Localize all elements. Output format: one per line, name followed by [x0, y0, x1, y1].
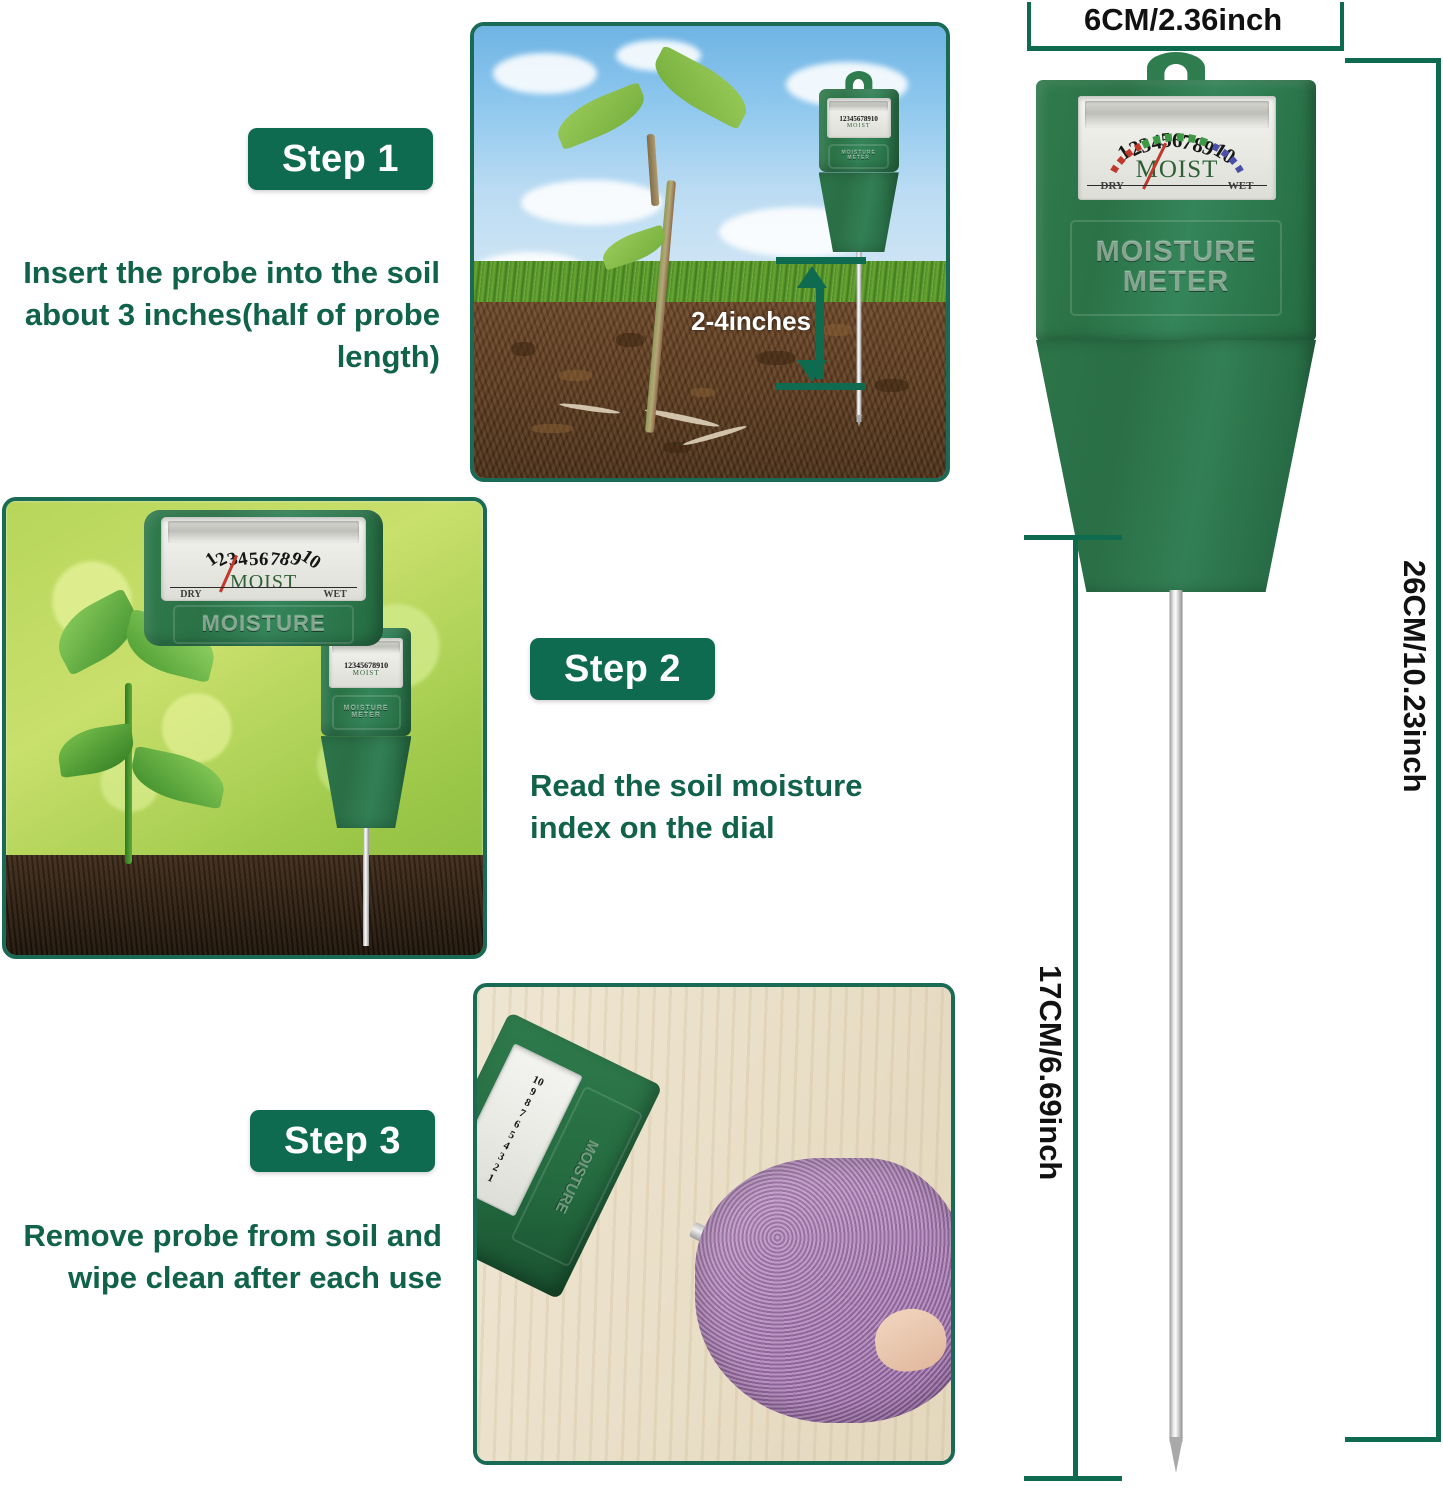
soil-texture	[512, 342, 536, 356]
step-1-badge: Step 1	[248, 128, 433, 190]
dial-wet-label: WET	[1228, 180, 1254, 192]
emboss-line-2: METER	[847, 156, 870, 161]
width-dim-bar	[1027, 46, 1344, 51]
meter-taper	[321, 736, 412, 828]
step-1-badge-label: Step 1	[282, 138, 399, 181]
dial-moist-label: MOIST	[828, 123, 890, 129]
soil-texture	[531, 424, 573, 433]
step-1-photo: 12345678910 MOIST MOISTURE METER 2-4inch…	[470, 22, 950, 482]
probe-length-measurement-label: 17CM/6.69inch	[1032, 965, 1068, 1180]
cloud-shape	[521, 180, 663, 225]
meter-body-emboss-photo1: MOISTURE METER	[828, 144, 889, 169]
total-length-measurement-label: 26CM/10.23inch	[1396, 560, 1432, 793]
dial-numbers: 12345678910	[828, 111, 890, 124]
meter-probe	[1170, 590, 1183, 1442]
dial-baseline	[170, 587, 357, 588]
dial-wet-label: WET	[324, 589, 347, 600]
step-3-badge: Step 3	[250, 1110, 435, 1172]
emboss-line-2: METER	[351, 712, 381, 719]
meter-body-emboss-photo2: MOISTURE METER	[332, 695, 401, 730]
probe-length-bottom-tick	[1024, 1476, 1122, 1481]
emboss-line-2: METER	[1123, 268, 1230, 298]
total-length-bottom-tick	[1345, 1437, 1441, 1442]
dial-dry-wet-labels: DRY WET	[162, 589, 365, 600]
soil-texture	[757, 351, 795, 365]
meter-taper	[1036, 340, 1316, 592]
dial-callout-zoom: 12345678910 MOIST DRY WET MOISTURE	[144, 510, 383, 646]
step-2-badge: Step 2	[530, 638, 715, 700]
infographic-root: Step 1 Insert the probe into the soil ab…	[0, 0, 1443, 1500]
step-1-caption: Insert the probe into the soil about 3 i…	[20, 252, 440, 378]
depth-top-line	[776, 257, 866, 264]
product-dial-face: 12345678910 MOIST DRY WET	[1078, 96, 1276, 200]
width-measurement-label: 6CM/2.36inch	[1084, 2, 1282, 38]
dial-moist-label: MOIST	[330, 669, 402, 677]
meter-probe	[363, 828, 369, 946]
depth-arrow-down	[797, 360, 827, 382]
meter-taper	[819, 172, 899, 252]
step-2-badge-label: Step 2	[564, 648, 681, 691]
step-3-badge-label: Step 3	[284, 1120, 401, 1163]
microfiber-cloth	[695, 1158, 955, 1423]
total-length-bar	[1436, 58, 1441, 1440]
depth-annotation-label: 2-4inches	[691, 306, 811, 337]
width-dim-right-tick	[1340, 2, 1344, 50]
callout-body-emboss: MOISTURE	[173, 605, 354, 643]
emboss-line-1: MOISTURE	[552, 1137, 602, 1216]
plant-stem	[125, 683, 132, 865]
emboss-line-1: MOISTURE	[1095, 238, 1256, 268]
emboss-line-1: MOISTURE	[202, 613, 326, 635]
dial-dry-wet-labels: DRY WET	[1079, 180, 1275, 192]
dial-face-large: 12345678910 MOIST DRY WET	[161, 517, 366, 601]
step-3-photo: 12345678910 MOISTURE	[473, 983, 955, 1465]
potting-soil	[6, 855, 483, 955]
soil-texture	[616, 333, 644, 347]
dial-glass	[829, 101, 887, 111]
probe-tip	[1169, 1437, 1183, 1473]
probe-tip	[856, 415, 862, 427]
dial-dry-label: DRY	[180, 589, 201, 600]
meter-device-photo1: 12345678910 MOIST MOISTURE METER	[819, 71, 899, 433]
soil-texture	[559, 370, 592, 381]
dial-numbers: 12345678910	[162, 539, 365, 570]
meter-body-emboss: MOISTURE METER	[1070, 220, 1283, 316]
probe-length-bar	[1073, 535, 1078, 1480]
dial-numbers: 12345678910	[330, 653, 402, 670]
depth-bottom-line	[776, 383, 866, 390]
dial-number: 1	[486, 1172, 496, 1185]
step-2-photo: 12345678910 MOIST MOISTURE METER 1234567…	[2, 497, 487, 959]
meter-device-photo2: 12345678910 MOIST MOISTURE METER	[321, 628, 412, 946]
step-2-caption: Read the soil moisture index on the dial	[530, 765, 930, 849]
step-3-caption: Remove probe from soil and wipe clean af…	[22, 1215, 442, 1299]
total-length-top-tick	[1345, 58, 1441, 63]
soil-texture	[691, 388, 715, 397]
width-dim-left-tick	[1027, 2, 1031, 50]
cloud-shape	[493, 53, 597, 94]
dial-face-small: 12345678910 MOIST	[827, 98, 891, 138]
product-meter: 12345678910 MOIST DRY WET MOISTURE METER	[1036, 52, 1316, 1452]
meter-probe	[856, 252, 861, 422]
dial-dry-label: DRY	[1101, 180, 1124, 192]
